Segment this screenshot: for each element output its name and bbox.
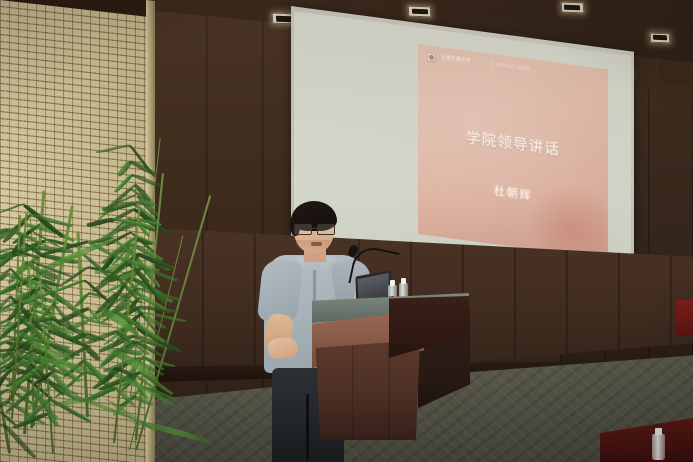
ceiling-light-fixture <box>408 6 432 18</box>
projected-slide: 上海交通大学 SHANGHAI JIAO TONG UNIVERSITY 机械与… <box>418 44 608 259</box>
logo-divider <box>491 61 492 70</box>
ceiling-light-fixture <box>650 33 671 43</box>
plant-leaflet <box>96 143 130 154</box>
red-furniture-object <box>676 300 693 336</box>
presenter-trouser-seam <box>306 394 309 460</box>
university-crest-icon <box>427 52 436 62</box>
floor-water-bottle <box>652 434 665 460</box>
glasses-lens-right <box>317 224 335 235</box>
glasses-lens-left <box>294 224 312 235</box>
presenter-glasses <box>293 224 335 233</box>
slide-title: 学院领导讲话 <box>418 120 608 166</box>
podium-front-panel <box>316 340 420 440</box>
slide-light-glow <box>528 179 608 260</box>
bamboo-palm-plant <box>0 96 180 462</box>
lecture-hall-photograph: 上海交通大学 SHANGHAI JIAO TONG UNIVERSITY 机械与… <box>0 0 693 462</box>
plant-leaflet <box>0 202 25 215</box>
glasses-bridge <box>310 228 317 229</box>
ceiling-light-fixture <box>561 2 584 14</box>
presenter-mouth <box>311 242 322 246</box>
